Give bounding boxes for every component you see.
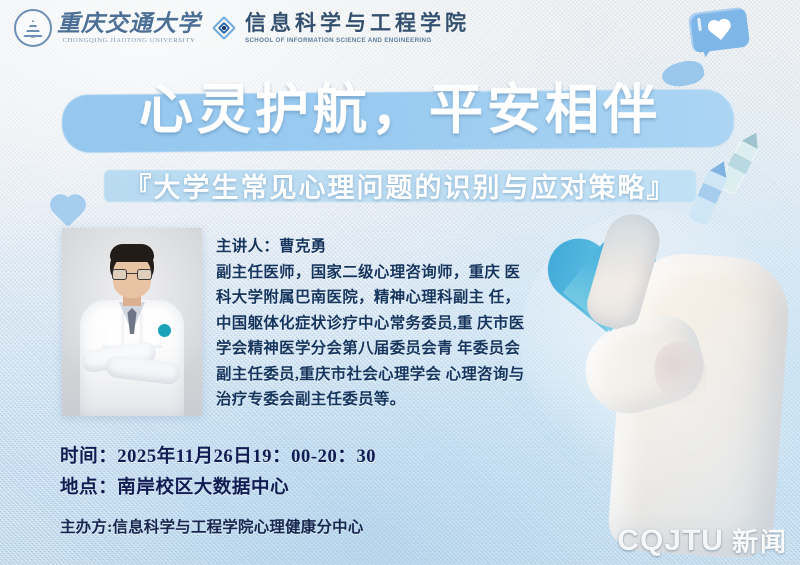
watermark-cn: 新闻 xyxy=(732,522,788,559)
school-diamond-logo-icon xyxy=(211,15,237,41)
page-title: 心灵护航，平安相伴 xyxy=(0,82,800,139)
poster-canvas: 重庆交通大学 CHONGQING JIAOTONG UNIVERSITY 信息科… xyxy=(0,0,800,565)
blue-heart-icon xyxy=(539,234,670,358)
watermark: CQJTU 新闻 xyxy=(617,522,788,559)
university-emblem-icon xyxy=(14,9,52,47)
speaker-bio: 主讲人：曹克勇 副主任医师，国家二级心理咨询师，重庆 医科大学附属巴南医院，精神… xyxy=(216,234,534,413)
university-name-en: CHONGQING JIAOTONG UNIVERSITY xyxy=(57,37,201,44)
speaker-portrait xyxy=(62,228,202,416)
heart-glow-halo xyxy=(520,210,790,470)
university-name-cn: 重庆交通大学 xyxy=(57,12,201,36)
title-area: 心灵护航，平安相伴 『大学生常见心理问题的识别与应对策略』 xyxy=(0,82,800,139)
school-name-cn: 信息科学与工程学院 xyxy=(245,12,470,35)
watermark-en: CQJTU xyxy=(617,524,724,558)
school-name-en: SCHOOL OF INFORMATION SCIENCE AND ENGINE… xyxy=(245,37,470,44)
school-name-block: 信息科学与工程学院 SCHOOL OF INFORMATION SCIENCE … xyxy=(245,12,470,44)
speaker-name-line: 主讲人：曹克勇 xyxy=(216,234,534,260)
hand-thumb xyxy=(575,308,712,423)
header-logos: 重庆交通大学 CHONGQING JIAOTONG UNIVERSITY 信息科… xyxy=(0,0,800,56)
hand-knuckle-shade xyxy=(646,335,715,412)
hand-holding-heart-illustration xyxy=(505,215,800,565)
page-subtitle: 『大学生常见心理问题的识别与应对策略』 xyxy=(0,166,800,205)
event-info: 时间：2025年11月26日19：00-20：30 地点：南岸校区大数据中心 xyxy=(60,442,580,504)
hand-index-finger xyxy=(582,208,666,334)
hand-palm xyxy=(607,250,793,561)
event-host: 主办方:信息科学与工程学院心理健康分中心 xyxy=(60,515,364,537)
hand-glow xyxy=(505,215,800,565)
university-name-block: 重庆交通大学 CHONGQING JIAOTONG UNIVERSITY xyxy=(57,12,201,44)
bio-line: 副主任医师，国家二级心理咨询师，重庆 xyxy=(216,264,500,281)
event-location: 地点：南岸校区大数据中心 xyxy=(60,473,580,504)
event-time: 时间：2025年11月26日19：00-20：30 xyxy=(60,442,580,473)
